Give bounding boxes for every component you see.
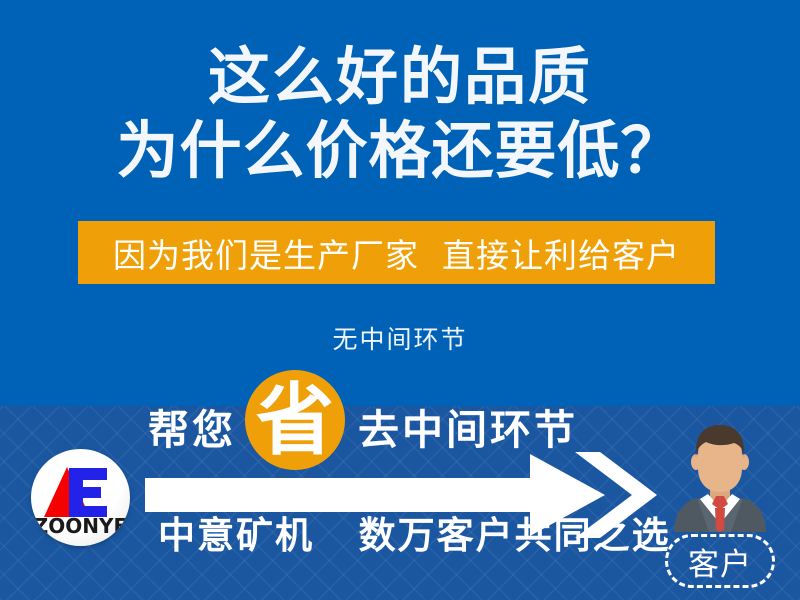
save-row-left-text: 帮您 [148,396,236,456]
page-title: 这么好的品质 为什么价格还要低？ [0,40,800,188]
save-row-right-text: 去中间环节 [358,396,578,456]
customer-label-chip: 客户 [665,534,775,588]
tagline-text: 中意矿机 数万客户共同之选 [158,505,671,559]
headline-line-1: 这么好的品质 [0,40,800,114]
orange-banner-text: 因为我们是生产厂家 直接让利给客户 [113,229,680,277]
orange-highlight-banner: 因为我们是生产厂家 直接让利给客户 [78,221,715,284]
headline-line-2: 为什么价格还要低？ [0,114,800,188]
customer-label: 客户 [688,539,752,584]
logo-letter-e [69,468,107,517]
promo-banner: 这么好的品质 为什么价格还要低？ 因为我们是生产厂家 直接让利给客户 无中间环节… [0,0,800,600]
sub-note-text: 无中间环节 [0,320,800,356]
save-badge-glyph: 省 [256,382,334,460]
company-logo: ZOONYE [31,449,130,546]
logo-mark: ZOONYE [31,449,130,546]
avatar-tie [715,508,725,532]
customer-avatar-icon [664,424,776,532]
